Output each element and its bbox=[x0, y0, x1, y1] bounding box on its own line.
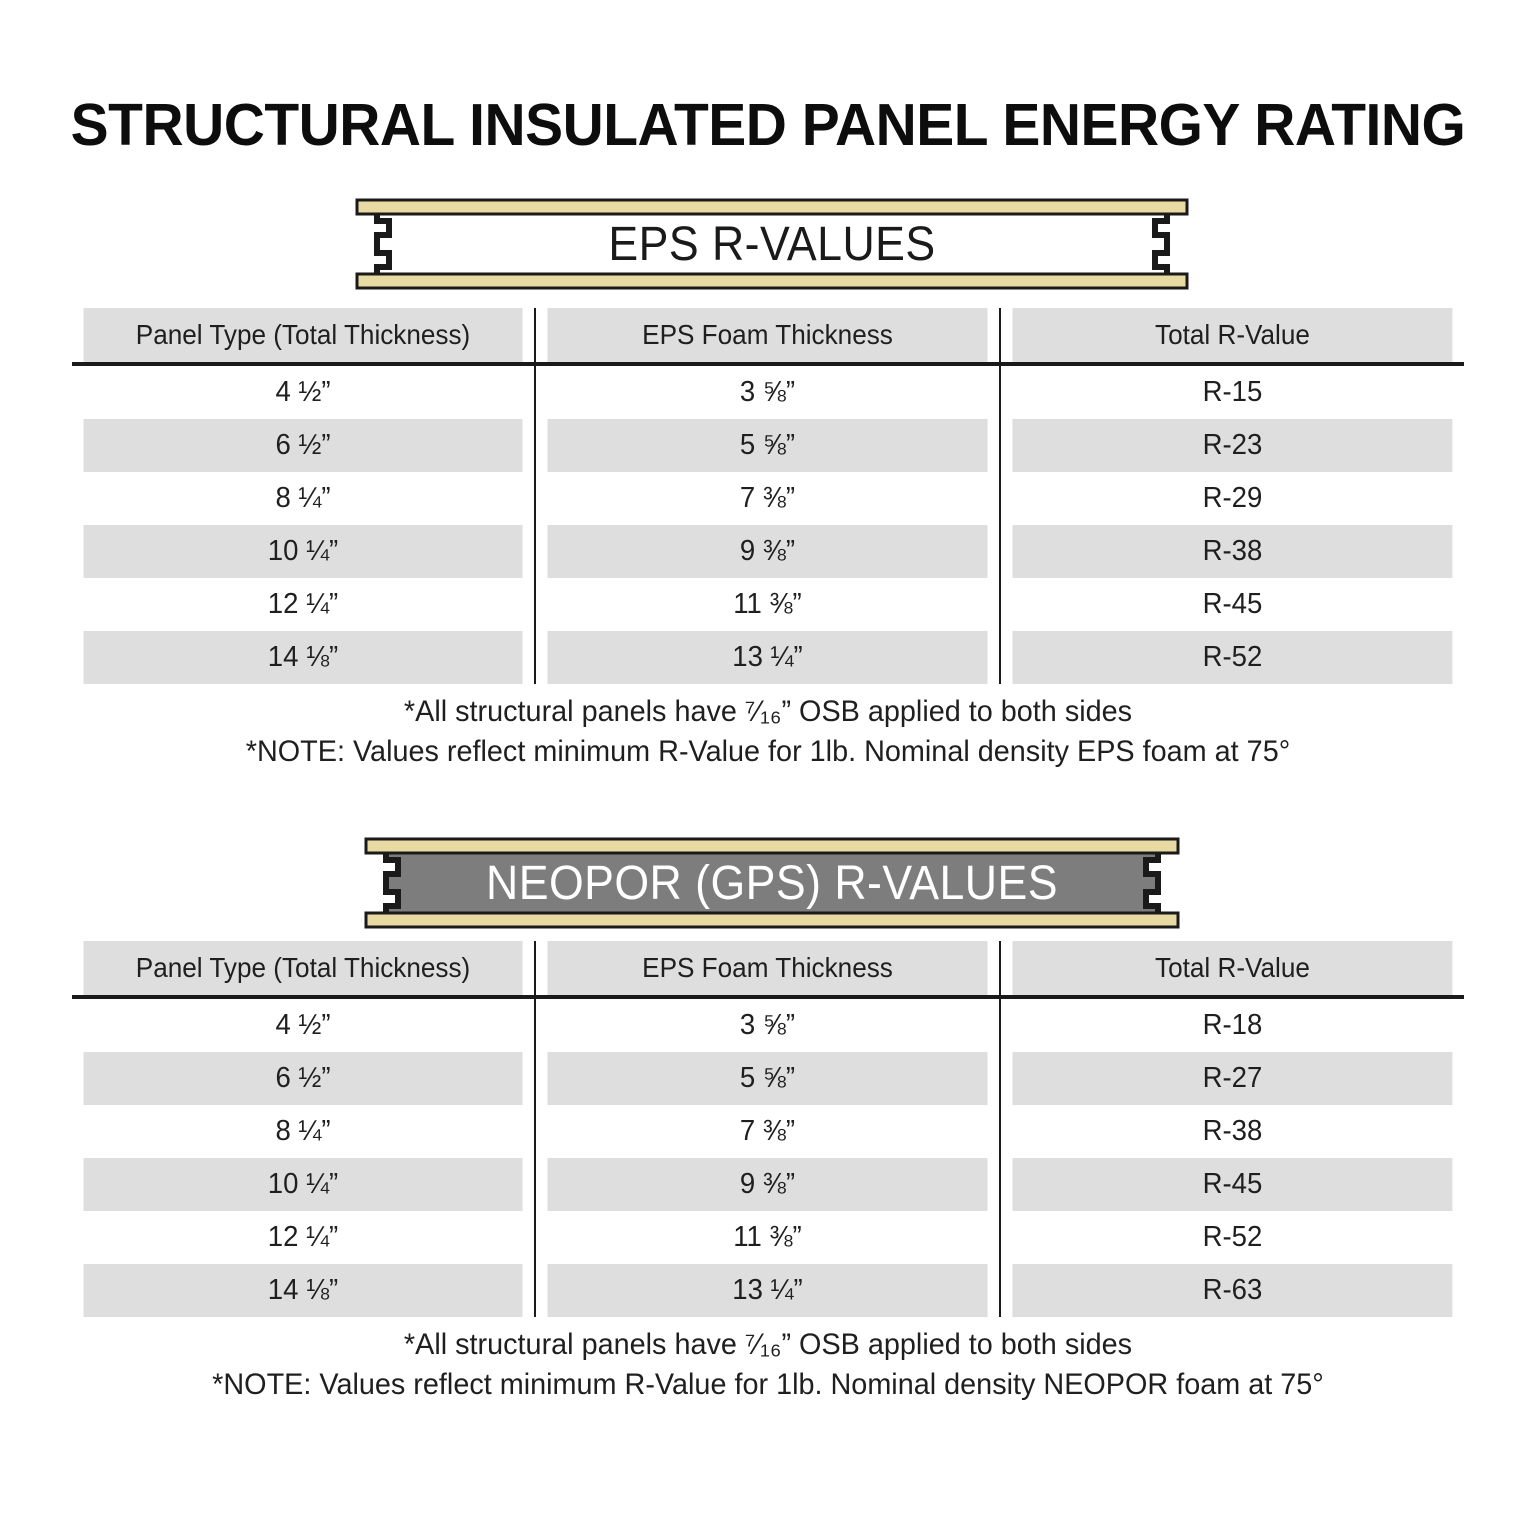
table-row: 4 ½” 3 ⅝” R-15 bbox=[72, 364, 1464, 419]
cell-r-value: R-29 bbox=[1012, 472, 1453, 525]
cell-foam-thickness: 11 ⅜” bbox=[547, 578, 989, 631]
table-row: 14 ⅛” 13 ¼” R-52 bbox=[72, 631, 1464, 684]
cell-panel-type: 4 ½” bbox=[84, 364, 524, 419]
sip-panel-cross-section-icon bbox=[352, 833, 1192, 933]
cell-panel-type: 12 ¼” bbox=[84, 1211, 524, 1264]
eps-panel-banner: EPS R-VALUES bbox=[343, 194, 1201, 294]
table-row: 10 ¼” 9 ⅜” R-45 bbox=[72, 1158, 1464, 1211]
column-header-panel-type: Panel Type (Total Thickness) bbox=[84, 308, 524, 364]
table-row: 8 ¼” 7 ⅜” R-38 bbox=[72, 1105, 1464, 1158]
table-row: 8 ¼” 7 ⅜” R-29 bbox=[72, 472, 1464, 525]
column-header-total-r-value: Total R-Value bbox=[1012, 941, 1453, 997]
table-row: 4 ½” 3 ⅝” R-18 bbox=[72, 997, 1464, 1052]
cell-r-value: R-18 bbox=[1012, 997, 1453, 1052]
cell-panel-type: 10 ¼” bbox=[84, 525, 524, 578]
cell-foam-thickness: 5 ⅝” bbox=[547, 419, 989, 472]
cell-r-value: R-63 bbox=[1012, 1264, 1453, 1317]
cell-panel-type: 8 ¼” bbox=[84, 1105, 524, 1158]
footnote-osb: *All structural panels have ⁷⁄₁₆” OSB ap… bbox=[31, 692, 1506, 732]
cell-r-value: R-23 bbox=[1012, 419, 1453, 472]
footnote-note: *NOTE: Values reflect minimum R-Value fo… bbox=[31, 1365, 1506, 1405]
cell-r-value: R-38 bbox=[1012, 1105, 1453, 1158]
table-header-row: Panel Type (Total Thickness) EPS Foam Th… bbox=[72, 941, 1464, 997]
column-header-foam-thickness: EPS Foam Thickness bbox=[547, 308, 989, 364]
cell-panel-type: 14 ⅛” bbox=[84, 1264, 524, 1317]
cell-foam-thickness: 3 ⅝” bbox=[547, 364, 989, 419]
table-row: 6 ½” 5 ⅝” R-23 bbox=[72, 419, 1464, 472]
cell-r-value: R-45 bbox=[1012, 1158, 1453, 1211]
neopor-r-values-table: Panel Type (Total Thickness) EPS Foam Th… bbox=[72, 941, 1464, 1317]
cell-r-value: R-45 bbox=[1012, 578, 1453, 631]
cell-panel-type: 14 ⅛” bbox=[84, 631, 524, 684]
sip-panel-cross-section-icon bbox=[343, 194, 1201, 294]
column-header-total-r-value: Total R-Value bbox=[1012, 308, 1453, 364]
table-row: 6 ½” 5 ⅝” R-27 bbox=[72, 1052, 1464, 1105]
cell-r-value: R-52 bbox=[1012, 1211, 1453, 1264]
table-row: 14 ⅛” 13 ¼” R-63 bbox=[72, 1264, 1464, 1317]
cell-r-value: R-52 bbox=[1012, 631, 1453, 684]
neopor-panel-banner: NEOPOR (GPS) R-VALUES bbox=[352, 833, 1192, 933]
cell-foam-thickness: 7 ⅜” bbox=[547, 472, 989, 525]
neopor-footnotes: *All structural panels have ⁷⁄₁₆” OSB ap… bbox=[0, 1325, 1536, 1405]
cell-foam-thickness: 5 ⅝” bbox=[547, 1052, 989, 1105]
cell-panel-type: 12 ¼” bbox=[84, 578, 524, 631]
cell-foam-thickness: 3 ⅝” bbox=[547, 997, 989, 1052]
table-row: 12 ¼” 11 ⅜” R-45 bbox=[72, 578, 1464, 631]
cell-panel-type: 4 ½” bbox=[84, 997, 524, 1052]
cell-foam-thickness: 13 ¼” bbox=[547, 631, 989, 684]
cell-foam-thickness: 7 ⅜” bbox=[547, 1105, 989, 1158]
cell-r-value: R-15 bbox=[1012, 364, 1453, 419]
infographic-page: STRUCTURAL INSULATED PANEL ENERGY RATING… bbox=[0, 0, 1536, 1536]
cell-panel-type: 6 ½” bbox=[84, 1052, 524, 1105]
cell-foam-thickness: 11 ⅜” bbox=[547, 1211, 989, 1264]
eps-r-values-table: Panel Type (Total Thickness) EPS Foam Th… bbox=[72, 308, 1464, 684]
eps-footnotes: *All structural panels have ⁷⁄₁₆” OSB ap… bbox=[0, 692, 1536, 772]
table-row: 10 ¼” 9 ⅜” R-38 bbox=[72, 525, 1464, 578]
cell-foam-thickness: 9 ⅜” bbox=[547, 1158, 989, 1211]
cell-r-value: R-27 bbox=[1012, 1052, 1453, 1105]
column-header-panel-type: Panel Type (Total Thickness) bbox=[84, 941, 524, 997]
footnote-osb: *All structural panels have ⁷⁄₁₆” OSB ap… bbox=[31, 1325, 1506, 1365]
cell-panel-type: 8 ¼” bbox=[84, 472, 524, 525]
cell-foam-thickness: 13 ¼” bbox=[547, 1264, 989, 1317]
cell-r-value: R-38 bbox=[1012, 525, 1453, 578]
column-header-foam-thickness: EPS Foam Thickness bbox=[547, 941, 989, 997]
table-row: 12 ¼” 11 ⅜” R-52 bbox=[72, 1211, 1464, 1264]
page-title: STRUCTURAL INSULATED PANEL ENERGY RATING bbox=[27, 96, 1509, 155]
cell-panel-type: 6 ½” bbox=[84, 419, 524, 472]
cell-panel-type: 10 ¼” bbox=[84, 1158, 524, 1211]
footnote-note: *NOTE: Values reflect minimum R-Value fo… bbox=[31, 732, 1506, 772]
table-header-row: Panel Type (Total Thickness) EPS Foam Th… bbox=[72, 308, 1464, 364]
cell-foam-thickness: 9 ⅜” bbox=[547, 525, 989, 578]
